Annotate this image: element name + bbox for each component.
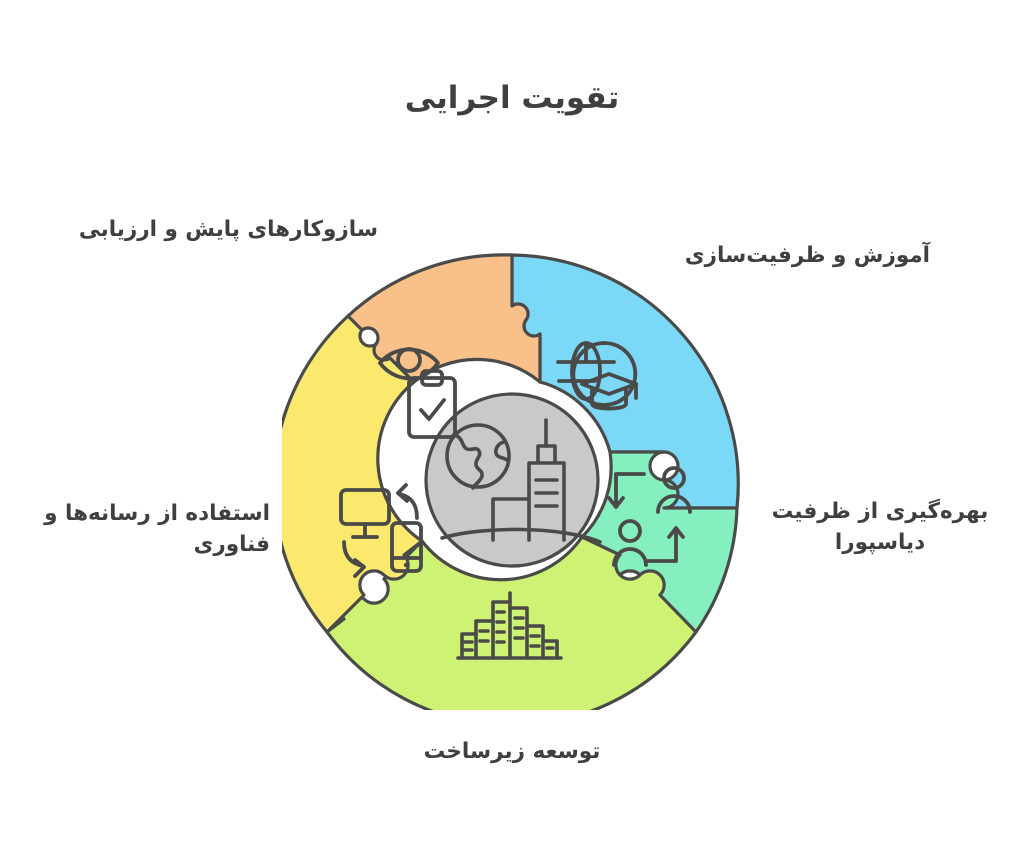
- page-title: تقویت اجرایی: [0, 80, 1024, 116]
- segment-label-diaspora: بهره‌گیری از ظرفیت دیاسپورا: [745, 496, 1015, 558]
- segment-label-infrastructure: توسعه زیرساخت: [352, 736, 672, 767]
- segment-label-training: آموزش و ظرفیت‌سازی: [640, 240, 930, 271]
- puzzle-wheel-svg: [282, 250, 742, 710]
- center-hub[interactable]: [426, 394, 598, 566]
- segment-label-monitoring: سازوکارهای پایش و ارزیابی: [28, 214, 378, 245]
- puzzle-wheel-diagram: [282, 250, 742, 710]
- segment-label-media: استفاده از رسانه‌ها و فناوری: [5, 498, 270, 560]
